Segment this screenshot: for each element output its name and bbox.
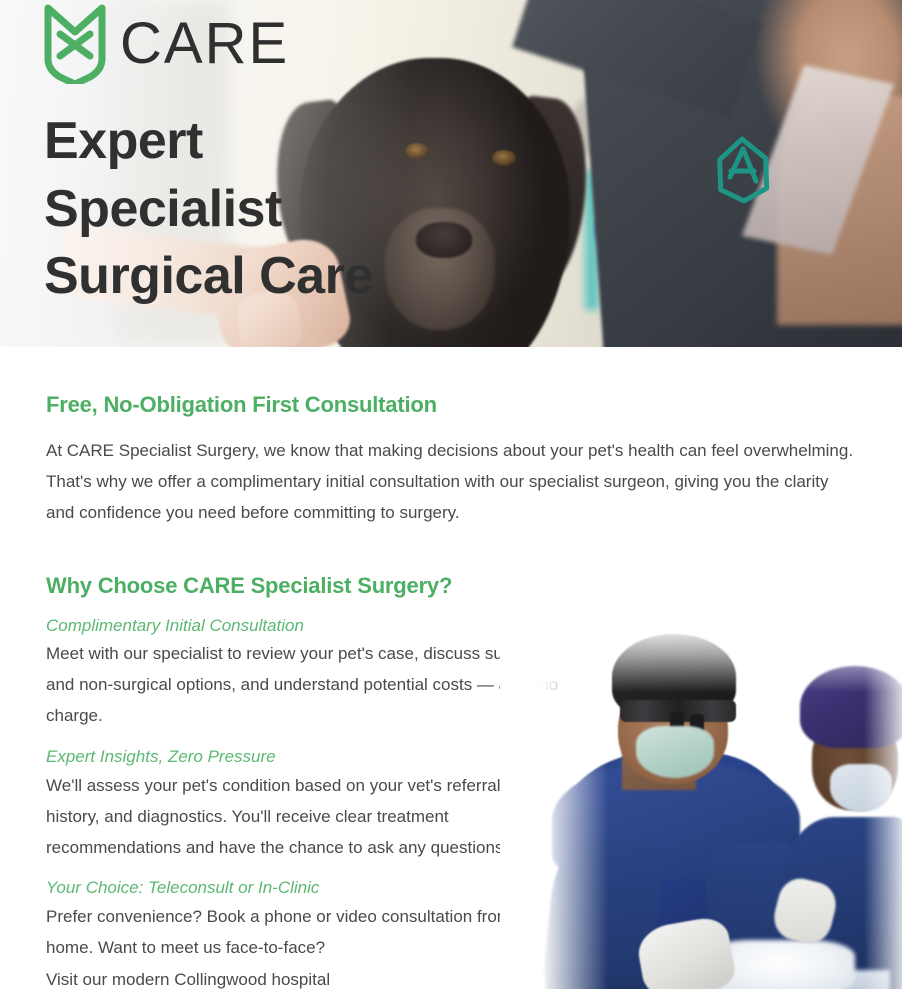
section-heading-free-consultation: Free, No-Obligation First Consultation <box>46 392 856 418</box>
brand-wordmark: CARE <box>120 15 289 73</box>
feature-title-expert-insights: Expert Insights, Zero Pressure <box>46 744 561 770</box>
brand-lockup[interactable]: CARE <box>44 4 289 84</box>
page-title: Expert Specialist Surgical Care <box>44 108 373 311</box>
care-shield-logo-icon <box>44 4 106 84</box>
page-root: CARE Expert Specialist Surgical Care Fre… <box>0 0 902 989</box>
section-heading-why-choose: Why Choose CARE Specialist Surgery? <box>46 573 856 599</box>
feature-item-complimentary-consultation: Complimentary Initial Consultation Meet … <box>46 613 561 732</box>
feature-title-your-choice: Your Choice: Teleconsult or In-Clinic <box>46 875 561 901</box>
section-why-choose: Why Choose CARE Specialist Surgery? Comp… <box>46 529 856 989</box>
feature-title-complimentary-consultation: Complimentary Initial Consultation <box>46 613 561 639</box>
section-paragraph-free-consultation: At CARE Specialist Surgery, we know that… <box>46 436 856 529</box>
main-content: Free, No-Obligation First Consultation A… <box>0 347 902 989</box>
headline-line-2: Specialist <box>44 176 373 244</box>
headline-line-1: Expert <box>44 108 373 176</box>
hero-banner: CARE Expert Specialist Surgical Care <box>0 0 902 347</box>
feature-item-expert-insights: Expert Insights, Zero Pressure We'll ass… <box>46 744 561 863</box>
feature-list: Complimentary Initial Consultation Meet … <box>46 613 561 989</box>
feature-body-complimentary-consultation: Meet with our specialist to review your … <box>46 639 561 732</box>
section-free-consultation: Free, No-Obligation First Consultation A… <box>46 347 856 529</box>
feature-item-your-choice: Your Choice: Teleconsult or In-Clinic Pr… <box>46 875 561 963</box>
care-teal-embroidered-logo-icon <box>712 133 774 205</box>
feature-body-your-choice: Prefer convenience? Book a phone or vide… <box>46 902 561 964</box>
section-closing-line: Visit our modern Collingwood hospital <box>46 965 561 989</box>
feature-body-expert-insights: We'll assess your pet's condition based … <box>46 771 561 864</box>
headline-line-3: Surgical Care <box>44 243 373 311</box>
